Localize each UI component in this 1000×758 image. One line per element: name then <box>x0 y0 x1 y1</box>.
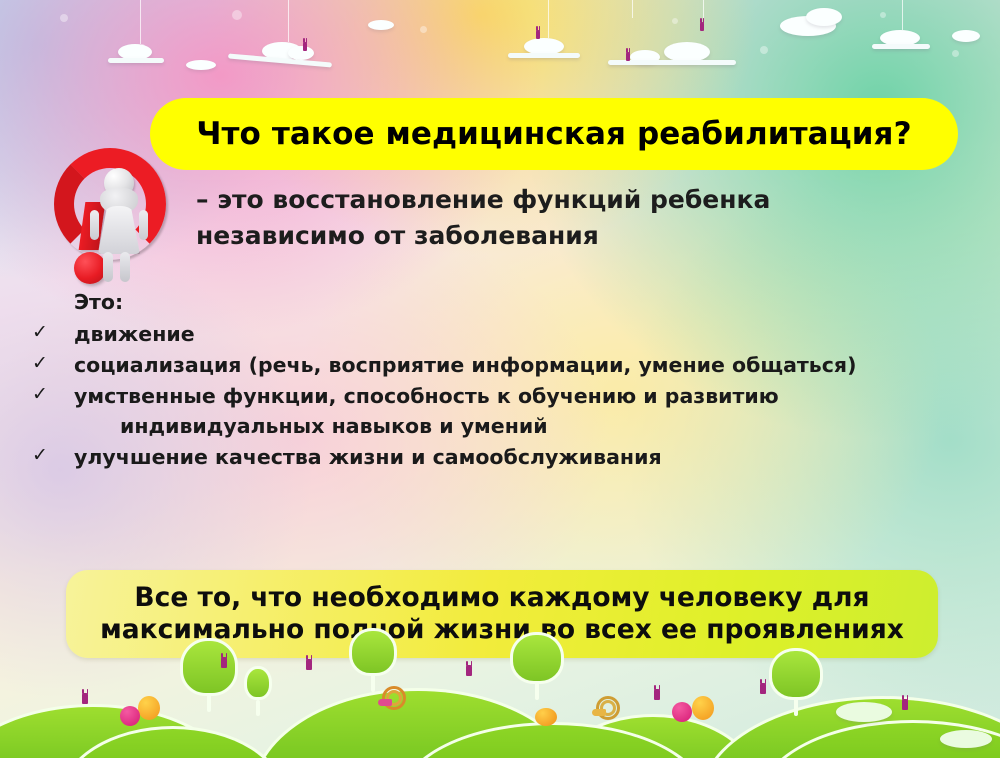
tree-icon <box>180 638 238 712</box>
page-title: Что такое медицинская реабилитация? <box>196 116 911 152</box>
tree-icon <box>244 674 272 716</box>
bunny-icon <box>654 689 660 700</box>
berry-icon <box>138 696 160 720</box>
list-item: ✓ движение <box>74 320 954 350</box>
tree-icon <box>350 632 396 692</box>
bunny-icon <box>82 693 88 704</box>
list-item: ✓ социализация (речь, восприятие информа… <box>74 351 954 381</box>
berry-icon <box>120 706 140 726</box>
cloud-icon <box>186 60 216 70</box>
berry-icon <box>672 702 692 722</box>
bottom-landscape <box>0 648 1000 758</box>
subtitle-block: – это восстановление функций ребенка нез… <box>196 182 896 253</box>
list-item-label: умственные функции, способность к обучен… <box>74 384 779 438</box>
slide-canvas: Что такое медицинская реабилитация? – эт… <box>0 0 1000 758</box>
list-item-label: улучшение качества жизни и самообслужива… <box>74 445 662 469</box>
bunny-icon <box>700 22 704 31</box>
berry-icon <box>692 696 714 720</box>
subtitle-line-1: – это восстановление функций ребенка <box>196 182 896 218</box>
bunny-icon <box>626 52 630 61</box>
figure-icon <box>84 168 154 284</box>
cloud-icon <box>940 730 992 748</box>
title-banner: Что такое медицинская реабилитация? <box>150 98 958 170</box>
list-item-label: социализация (речь, восприятие информаци… <box>74 353 856 377</box>
tree-icon <box>770 648 822 716</box>
snail-icon <box>592 696 614 716</box>
tree-icon <box>510 634 564 700</box>
list-item-label: движение <box>74 322 195 346</box>
bunny-icon <box>536 30 540 39</box>
cloud-icon <box>664 42 710 62</box>
bunny-icon <box>303 42 307 51</box>
list-lead-label: Это: <box>74 288 954 318</box>
cloud-icon <box>806 8 842 26</box>
benefits-list: ✓ движение ✓ социализация (речь, восприя… <box>74 320 954 473</box>
berry-icon <box>535 708 557 726</box>
cloud-icon <box>952 30 980 42</box>
conclusion-line-1: Все то, что необходимо каждому человеку … <box>134 582 869 614</box>
cloud-icon <box>836 702 892 722</box>
snail-icon <box>378 686 400 706</box>
bunny-icon <box>902 699 908 710</box>
top-sky-decoration <box>0 0 1000 110</box>
list-item: ✓ умственные функции, способность к обуч… <box>74 382 954 442</box>
question-mark-mascot <box>44 146 166 286</box>
bunny-icon <box>306 659 312 670</box>
bunny-icon <box>221 657 227 668</box>
subtitle-line-2: независимо от заболевания <box>196 218 896 254</box>
cloud-icon <box>288 46 314 60</box>
bunny-icon <box>466 665 472 676</box>
list-item: ✓ улучшение качества жизни и самообслужи… <box>74 443 954 473</box>
bunny-icon <box>760 683 766 694</box>
body-content: Это: ✓ движение ✓ социализация (речь, во… <box>74 288 954 474</box>
cloud-icon <box>368 20 394 30</box>
